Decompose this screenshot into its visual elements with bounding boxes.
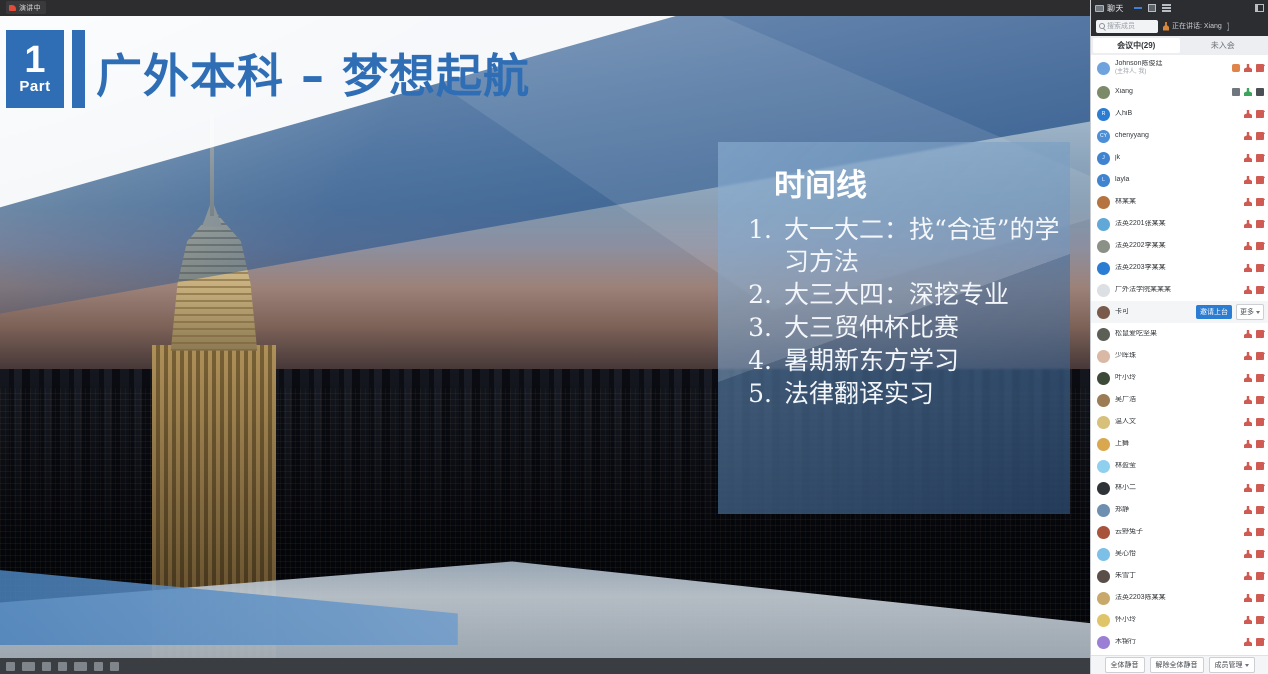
member-name: 云野兔子 bbox=[1115, 528, 1239, 537]
avatar bbox=[1097, 394, 1110, 407]
member-name: 法英2201张某某 bbox=[1115, 220, 1239, 229]
member-name: 朱雪丁 bbox=[1115, 572, 1239, 581]
slash-icon bbox=[1256, 221, 1265, 229]
member-row[interactable]: 吴心怡 bbox=[1091, 543, 1268, 565]
title-rule bbox=[72, 30, 85, 108]
avatar bbox=[1097, 460, 1110, 473]
microphone-muted-icon bbox=[1244, 176, 1252, 184]
slash-icon bbox=[1256, 353, 1265, 361]
camera-muted-icon bbox=[1256, 330, 1264, 338]
member-name: 法英2203李某某 bbox=[1115, 264, 1239, 273]
microphone-on-icon bbox=[1244, 88, 1252, 96]
slash-icon bbox=[1244, 485, 1253, 493]
timeline-item-text: 大三大四：深挖专业 bbox=[784, 279, 1060, 311]
member-row[interactable]: 林小二 bbox=[1091, 477, 1268, 499]
slash-icon bbox=[1244, 397, 1253, 405]
slash-icon bbox=[1256, 177, 1265, 185]
member-row[interactable]: 少晖珠 bbox=[1091, 345, 1268, 367]
member-name: jk bbox=[1115, 154, 1239, 163]
avatar bbox=[1097, 372, 1110, 385]
member-names: 人hiB bbox=[1115, 110, 1239, 119]
microphone-muted-icon bbox=[1244, 154, 1252, 162]
member-actions bbox=[1244, 374, 1264, 382]
member-names: 怀小玲 bbox=[1115, 616, 1239, 625]
member-name: 怀小玲 bbox=[1115, 616, 1239, 625]
timeline-item: 4.暑期新东方学习 bbox=[744, 345, 1060, 377]
avatar bbox=[1097, 350, 1110, 363]
slash-icon bbox=[1244, 287, 1253, 295]
taskbar-icon[interactable] bbox=[6, 662, 15, 671]
microphone-muted-icon bbox=[1244, 484, 1252, 492]
slash-icon bbox=[1256, 111, 1265, 119]
camera-muted-icon bbox=[1256, 198, 1264, 206]
camera-muted-icon bbox=[1256, 594, 1264, 602]
member-actions bbox=[1244, 638, 1264, 646]
microphone-icon bbox=[1163, 22, 1169, 31]
sound-wave-icon: )) bbox=[1227, 21, 1229, 31]
member-names: 卡可 bbox=[1115, 308, 1191, 317]
microphone-muted-icon bbox=[1244, 198, 1252, 206]
shared-screen-stage: 演讲中 1 Part 广外本科 – 梦想起航 bbox=[0, 0, 1090, 674]
member-actions bbox=[1244, 220, 1264, 228]
member-name: layla bbox=[1115, 176, 1239, 185]
member-actions bbox=[1244, 484, 1264, 492]
slash-icon bbox=[1256, 265, 1265, 273]
member-name: 木锦行 bbox=[1115, 638, 1239, 647]
slide-canvas: 1 Part 广外本科 – 梦想起航 时间线 1.大一大二：找“合适”的学习方法… bbox=[0, 16, 1090, 658]
avatar bbox=[1097, 62, 1110, 75]
timeline-item: 3.大三贸仲杯比赛 bbox=[744, 312, 1060, 344]
share-screen-icon bbox=[1232, 88, 1240, 96]
slash-icon bbox=[1244, 155, 1253, 163]
avatar bbox=[1097, 548, 1110, 561]
member-actions bbox=[1232, 88, 1264, 96]
member-actions bbox=[1244, 154, 1264, 162]
member-names: 林某某 bbox=[1115, 198, 1239, 207]
more-actions-label: 更多 bbox=[1240, 307, 1254, 317]
members-list[interactable]: Johnson陈俊廷(主持人, 我)XiangR人hiBCYchenyyangJ… bbox=[1091, 55, 1268, 655]
slash-icon bbox=[1244, 177, 1253, 185]
member-names: jk bbox=[1115, 154, 1239, 163]
camera-on-icon bbox=[1256, 88, 1264, 96]
more-actions-button[interactable]: 更多 bbox=[1236, 304, 1264, 320]
timeline-list: 1.大一大二：找“合适”的学习方法2.大三大四：深挖专业3.大三贸仲杯比赛4.暑… bbox=[744, 214, 1060, 411]
member-names: 法英2203李某某 bbox=[1115, 264, 1239, 273]
slash-icon bbox=[1244, 221, 1253, 229]
microphone-muted-icon bbox=[1244, 286, 1252, 294]
slash-icon bbox=[1256, 65, 1265, 73]
presenting-badge: 演讲中 bbox=[6, 1, 46, 14]
member-names: Johnson陈俊廷(主持人, 我) bbox=[1115, 60, 1227, 76]
slash-icon bbox=[1244, 375, 1253, 383]
member-row[interactable]: 吴广浩 bbox=[1091, 389, 1268, 411]
slash-icon bbox=[1244, 573, 1253, 581]
slash-icon bbox=[1256, 287, 1265, 295]
member-actions bbox=[1244, 550, 1264, 558]
slash-icon bbox=[1256, 639, 1265, 647]
slash-icon bbox=[1244, 551, 1253, 559]
member-role: (主持人, 我) bbox=[1115, 69, 1227, 76]
avatar bbox=[1097, 218, 1110, 231]
member-row[interactable]: 法英2202李某某 bbox=[1091, 235, 1268, 257]
avatar bbox=[1097, 86, 1110, 99]
member-actions bbox=[1244, 594, 1264, 602]
member-actions bbox=[1244, 176, 1264, 184]
member-name: Xiang bbox=[1115, 88, 1227, 97]
member-actions bbox=[1244, 528, 1264, 536]
microphone-muted-icon bbox=[1244, 616, 1252, 624]
member-name: 松鼠爱吃坚果 bbox=[1115, 330, 1239, 339]
avatar bbox=[1097, 438, 1110, 451]
camera-muted-icon bbox=[1256, 352, 1264, 360]
slash-icon bbox=[1244, 133, 1253, 141]
avatar bbox=[1097, 328, 1110, 341]
slash-icon bbox=[1256, 155, 1265, 163]
member-row[interactable]: 云野兔子 bbox=[1091, 521, 1268, 543]
camera-muted-icon bbox=[1256, 264, 1264, 272]
slash-icon bbox=[1244, 199, 1253, 207]
member-name: 上舞 bbox=[1115, 440, 1239, 449]
slash-icon bbox=[1244, 463, 1253, 471]
member-actions bbox=[1244, 132, 1264, 140]
avatar: R bbox=[1097, 108, 1110, 121]
minimize-icon[interactable] bbox=[1134, 7, 1142, 9]
member-row[interactable]: 法英2203陈某某 bbox=[1091, 587, 1268, 609]
member-actions bbox=[1244, 462, 1264, 470]
member-row[interactable]: Xiang bbox=[1091, 81, 1268, 103]
slash-icon bbox=[1256, 463, 1265, 471]
slash-icon bbox=[1256, 573, 1265, 581]
member-names: 温人文 bbox=[1115, 418, 1239, 427]
member-actions bbox=[1244, 396, 1264, 404]
slash-icon bbox=[1256, 441, 1265, 449]
maximize-icon[interactable] bbox=[1148, 4, 1156, 12]
avatar bbox=[1097, 240, 1110, 253]
slash-icon bbox=[1256, 485, 1265, 493]
member-names: 朱雪丁 bbox=[1115, 572, 1239, 581]
member-actions bbox=[1244, 286, 1264, 294]
timeline-item-index: 4. bbox=[744, 345, 784, 377]
timeline-item-index: 1. bbox=[744, 214, 784, 278]
member-actions bbox=[1232, 64, 1264, 72]
slash-icon bbox=[1256, 375, 1265, 383]
member-actions bbox=[1244, 572, 1264, 580]
camera-muted-icon bbox=[1256, 220, 1264, 228]
menu-icon[interactable] bbox=[1162, 4, 1171, 12]
camera-muted-icon bbox=[1256, 374, 1264, 382]
timeline-item-index: 2. bbox=[744, 279, 784, 311]
member-names: 木锦行 bbox=[1115, 638, 1239, 647]
microphone-muted-icon bbox=[1244, 528, 1252, 536]
member-names: chenyyang bbox=[1115, 132, 1239, 141]
member-name: 少晖珠 bbox=[1115, 352, 1239, 361]
tab-not-joined[interactable]: 未入会 bbox=[1180, 38, 1267, 53]
camera-muted-icon bbox=[1256, 110, 1264, 118]
member-names: 上舞 bbox=[1115, 440, 1239, 449]
camera-muted-icon bbox=[1256, 418, 1264, 426]
speaking-indicator: 正在讲话: Xiang )) bbox=[1163, 21, 1229, 31]
member-name: 法英2203陈某某 bbox=[1115, 594, 1239, 603]
taskbar-icon[interactable] bbox=[42, 662, 51, 671]
taskbar-icon[interactable] bbox=[58, 662, 67, 671]
member-row[interactable]: R人hiB bbox=[1091, 103, 1268, 125]
member-row[interactable]: 法英2201张某某 bbox=[1091, 213, 1268, 235]
taskbar-icon[interactable] bbox=[74, 662, 87, 671]
avatar bbox=[1097, 570, 1110, 583]
slash-icon bbox=[1256, 133, 1265, 141]
timeline-item-text: 法律翻译实习 bbox=[784, 378, 1060, 410]
avatar bbox=[1097, 614, 1110, 627]
member-actions: 邀请上台更多 bbox=[1196, 304, 1264, 320]
avatar bbox=[1097, 526, 1110, 539]
microphone-muted-icon bbox=[1244, 638, 1252, 646]
avatar bbox=[1097, 196, 1110, 209]
microphone-muted-icon bbox=[1244, 132, 1252, 140]
member-names: 法英2202李某某 bbox=[1115, 242, 1239, 251]
member-actions bbox=[1244, 616, 1264, 624]
slash-icon bbox=[1244, 617, 1253, 625]
member-name: Johnson陈俊廷 bbox=[1115, 60, 1227, 69]
member-row[interactable]: 法英2203李某某 bbox=[1091, 257, 1268, 279]
member-name: 卡可 bbox=[1115, 308, 1191, 317]
timeline-item-text: 暑期新东方学习 bbox=[784, 345, 1060, 377]
member-names: 云野兔子 bbox=[1115, 528, 1239, 537]
microphone-muted-icon bbox=[1244, 594, 1252, 602]
search-input[interactable]: 搜索成员 bbox=[1096, 20, 1158, 33]
taskbar-icon[interactable] bbox=[22, 662, 35, 671]
member-actions bbox=[1244, 264, 1264, 272]
member-actions bbox=[1244, 198, 1264, 206]
member-actions bbox=[1244, 352, 1264, 360]
mute-all-button[interactable]: 全体静音 bbox=[1105, 657, 1145, 673]
slash-icon bbox=[1244, 639, 1253, 647]
member-name: 叶小玲 bbox=[1115, 374, 1239, 383]
slash-icon bbox=[1244, 507, 1253, 515]
member-name: 吴广浩 bbox=[1115, 396, 1239, 405]
slash-icon bbox=[1244, 441, 1253, 449]
member-names: layla bbox=[1115, 176, 1239, 185]
member-actions bbox=[1244, 242, 1264, 250]
desktop-taskbar[interactable] bbox=[0, 658, 1090, 674]
avatar: J bbox=[1097, 152, 1110, 165]
unmute-all-button[interactable]: 解除全体静音 bbox=[1150, 657, 1204, 673]
member-row[interactable]: 松鼠爱吃坚果 bbox=[1091, 323, 1268, 345]
member-row[interactable]: CYchenyyang bbox=[1091, 125, 1268, 147]
speaking-label: 正在讲话: Xiang bbox=[1172, 21, 1222, 31]
camera-muted-icon bbox=[1256, 506, 1264, 514]
slide-title: 广外本科 – 梦想起航 bbox=[96, 40, 530, 106]
camera-muted-icon bbox=[1256, 528, 1264, 536]
avatar bbox=[1097, 262, 1110, 275]
slash-icon bbox=[1256, 617, 1265, 625]
taskbar-icon[interactable] bbox=[94, 662, 103, 671]
camera-muted-icon bbox=[1256, 286, 1264, 294]
presenting-icon bbox=[9, 5, 16, 11]
taskbar-icon[interactable] bbox=[110, 662, 119, 671]
slash-icon bbox=[1244, 595, 1253, 603]
member-row[interactable]: 郑静 bbox=[1091, 499, 1268, 521]
popout-icon[interactable] bbox=[1255, 4, 1264, 12]
slash-icon bbox=[1244, 111, 1253, 119]
slash-icon bbox=[1244, 529, 1253, 537]
member-names: 林盈莹 bbox=[1115, 462, 1239, 471]
member-names: 少晖珠 bbox=[1115, 352, 1239, 361]
slash-icon bbox=[1244, 331, 1253, 339]
panel-tabs: 会议中(29)未入会 bbox=[1091, 36, 1268, 55]
slash-icon bbox=[1256, 199, 1265, 207]
slash-icon bbox=[1244, 65, 1253, 73]
member-name: 温人文 bbox=[1115, 418, 1239, 427]
member-row[interactable]: 上舞 bbox=[1091, 433, 1268, 455]
timeline-item-index: 3. bbox=[744, 312, 784, 344]
search-icon bbox=[1099, 23, 1105, 29]
microphone-muted-icon bbox=[1244, 352, 1252, 360]
microphone-muted-icon bbox=[1244, 440, 1252, 448]
member-names: 松鼠爱吃坚果 bbox=[1115, 330, 1239, 339]
member-row[interactable]: 朱雪丁 bbox=[1091, 565, 1268, 587]
member-row[interactable]: Llayla bbox=[1091, 169, 1268, 191]
microphone-muted-icon bbox=[1244, 330, 1252, 338]
microphone-muted-icon bbox=[1244, 264, 1252, 272]
chevron-down-icon bbox=[1245, 664, 1249, 667]
slash-icon bbox=[1256, 529, 1265, 537]
member-name: chenyyang bbox=[1115, 132, 1239, 141]
microphone-muted-icon bbox=[1244, 242, 1252, 250]
timeline-item-index: 5. bbox=[744, 378, 784, 410]
panel-subheader: 搜索成员 正在讲话: Xiang )) bbox=[1091, 16, 1268, 36]
timeline-item: 2.大三大四：深挖专业 bbox=[744, 279, 1060, 311]
member-name: 法英2202李某某 bbox=[1115, 242, 1239, 251]
part-label: Part bbox=[19, 78, 50, 95]
camera-muted-icon bbox=[1256, 154, 1264, 162]
microphone-muted-icon bbox=[1244, 396, 1252, 404]
member-names: 法英2203陈某某 bbox=[1115, 594, 1239, 603]
slash-icon bbox=[1244, 265, 1253, 273]
microphone-muted-icon bbox=[1244, 64, 1252, 72]
camera-muted-icon bbox=[1256, 64, 1264, 72]
slash-icon bbox=[1256, 331, 1265, 339]
manage-members-button[interactable]: 成员管理 bbox=[1209, 657, 1255, 673]
camera-muted-icon bbox=[1256, 440, 1264, 448]
slash-icon bbox=[1244, 353, 1253, 361]
member-row[interactable]: 林某某 bbox=[1091, 191, 1268, 213]
part-number: 1 bbox=[24, 43, 45, 78]
members-panel: 聊天 搜索成员 正在讲话: Xiang )) 会议中(29)未入会 Johnso… bbox=[1090, 0, 1268, 674]
slide-part-badge: 1 Part bbox=[6, 30, 64, 108]
timeline-item: 5.法律翻译实习 bbox=[744, 378, 1060, 410]
member-row[interactable]: 温人文 bbox=[1091, 411, 1268, 433]
presenting-label: 演讲中 bbox=[19, 3, 41, 13]
chat-icon bbox=[1095, 5, 1104, 12]
camera-muted-icon bbox=[1256, 462, 1264, 470]
member-row[interactable]: 林盈莹 bbox=[1091, 455, 1268, 477]
avatar bbox=[1097, 504, 1110, 517]
member-names: 吴广浩 bbox=[1115, 396, 1239, 405]
timeline-item: 1.大一大二：找“合适”的学习方法 bbox=[744, 214, 1060, 278]
timeline-item-text: 大一大二：找“合适”的学习方法 bbox=[784, 214, 1060, 278]
app-root: 演讲中 1 Part 广外本科 – 梦想起航 bbox=[0, 0, 1268, 674]
member-names: 叶小玲 bbox=[1115, 374, 1239, 383]
member-row[interactable]: 广外法学院某某某 bbox=[1091, 279, 1268, 301]
avatar bbox=[1097, 482, 1110, 495]
member-names: 郑静 bbox=[1115, 506, 1239, 515]
avatar bbox=[1097, 636, 1110, 649]
microphone-muted-icon bbox=[1244, 374, 1252, 382]
chevron-down-icon bbox=[1256, 311, 1260, 314]
member-name: 广外法学院某某某 bbox=[1115, 286, 1239, 295]
slash-icon bbox=[1256, 243, 1265, 251]
microphone-muted-icon bbox=[1244, 418, 1252, 426]
panel-titlebar: 聊天 bbox=[1091, 0, 1268, 16]
member-row[interactable]: 卡可邀请上台更多 bbox=[1091, 301, 1268, 323]
camera-muted-icon bbox=[1256, 616, 1264, 624]
member-name: 郑静 bbox=[1115, 506, 1239, 515]
timeline-item-text: 大三贸仲杯比赛 bbox=[784, 312, 1060, 344]
member-name: 人hiB bbox=[1115, 110, 1239, 119]
member-name: 林小二 bbox=[1115, 484, 1239, 493]
member-row[interactable]: 怀小玲 bbox=[1091, 609, 1268, 631]
member-actions bbox=[1244, 506, 1264, 514]
member-names: Xiang bbox=[1115, 88, 1227, 97]
avatar bbox=[1097, 416, 1110, 429]
footer-button-label: 成员管理 bbox=[1215, 660, 1243, 670]
camera-muted-icon bbox=[1256, 572, 1264, 580]
raise-hand-icon bbox=[1232, 64, 1240, 72]
member-actions bbox=[1244, 440, 1264, 448]
member-name: 吴心怡 bbox=[1115, 550, 1239, 559]
slash-icon bbox=[1244, 243, 1253, 251]
avatar bbox=[1097, 306, 1110, 319]
member-row[interactable]: 叶小玲 bbox=[1091, 367, 1268, 389]
camera-muted-icon bbox=[1256, 176, 1264, 184]
member-row[interactable]: Johnson陈俊廷(主持人, 我) bbox=[1091, 55, 1268, 81]
camera-muted-icon bbox=[1256, 484, 1264, 492]
presenting-bar: 演讲中 bbox=[0, 0, 1090, 16]
member-row[interactable]: 木锦行 bbox=[1091, 631, 1268, 653]
avatar bbox=[1097, 284, 1110, 297]
avatar: L bbox=[1097, 174, 1110, 187]
member-name: 林盈莹 bbox=[1115, 462, 1239, 471]
camera-muted-icon bbox=[1256, 132, 1264, 140]
footer-button-label: 全体静音 bbox=[1111, 660, 1139, 670]
microphone-muted-icon bbox=[1244, 506, 1252, 514]
microphone-muted-icon bbox=[1244, 550, 1252, 558]
slash-icon bbox=[1256, 595, 1265, 603]
slash-icon bbox=[1256, 397, 1265, 405]
slash-icon bbox=[1244, 419, 1253, 427]
microphone-muted-icon bbox=[1244, 220, 1252, 228]
microphone-muted-icon bbox=[1244, 572, 1252, 580]
invite-to-stage-button[interactable]: 邀请上台 bbox=[1196, 305, 1232, 319]
microphone-muted-icon bbox=[1244, 110, 1252, 118]
member-actions bbox=[1244, 110, 1264, 118]
member-row[interactable]: Jjk bbox=[1091, 147, 1268, 169]
avatar bbox=[1097, 592, 1110, 605]
microphone-muted-icon bbox=[1244, 462, 1252, 470]
member-names: 吴心怡 bbox=[1115, 550, 1239, 559]
tab-in-meeting[interactable]: 会议中(29) bbox=[1093, 38, 1180, 53]
camera-muted-icon bbox=[1256, 550, 1264, 558]
timeline-title: 时间线 bbox=[774, 160, 867, 205]
camera-muted-icon bbox=[1256, 638, 1264, 646]
panel-title: 聊天 bbox=[1107, 3, 1124, 14]
member-actions bbox=[1244, 330, 1264, 338]
member-names: 法英2201张某某 bbox=[1115, 220, 1239, 229]
slash-icon bbox=[1256, 507, 1265, 515]
avatar: CY bbox=[1097, 130, 1110, 143]
camera-muted-icon bbox=[1256, 242, 1264, 250]
timeline-panel: 时间线 1.大一大二：找“合适”的学习方法2.大三大四：深挖专业3.大三贸仲杯比… bbox=[718, 142, 1070, 514]
